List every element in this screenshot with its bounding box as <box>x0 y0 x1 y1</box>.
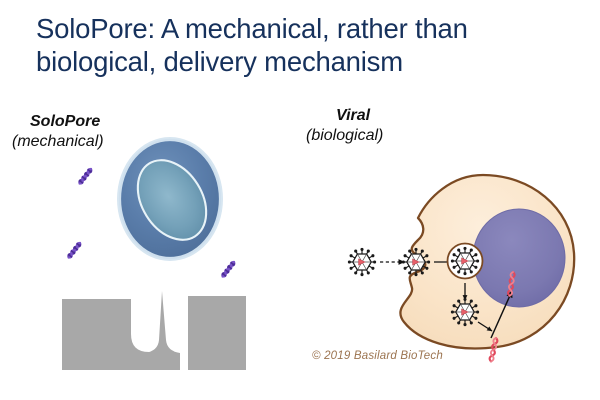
dna-helix-icon-2 <box>67 241 82 259</box>
dna-helix-icon-1 <box>78 167 93 185</box>
constriction-right-notch-mask <box>174 296 188 352</box>
constriction-center-spike <box>145 291 180 370</box>
viral-cell-nucleus <box>473 209 565 307</box>
slide-canvas: SoloPore: A mechanical, rather than biol… <box>0 0 600 400</box>
virus-capsid-icon-1 <box>348 248 376 276</box>
constriction-left-block <box>62 299 149 370</box>
solopore-panel-graphic <box>62 137 246 370</box>
viral-panel-graphic <box>348 175 574 362</box>
diagram-illustration <box>0 0 600 400</box>
dna-helix-icon-3 <box>221 260 236 278</box>
constriction-right-block-body <box>188 296 246 370</box>
